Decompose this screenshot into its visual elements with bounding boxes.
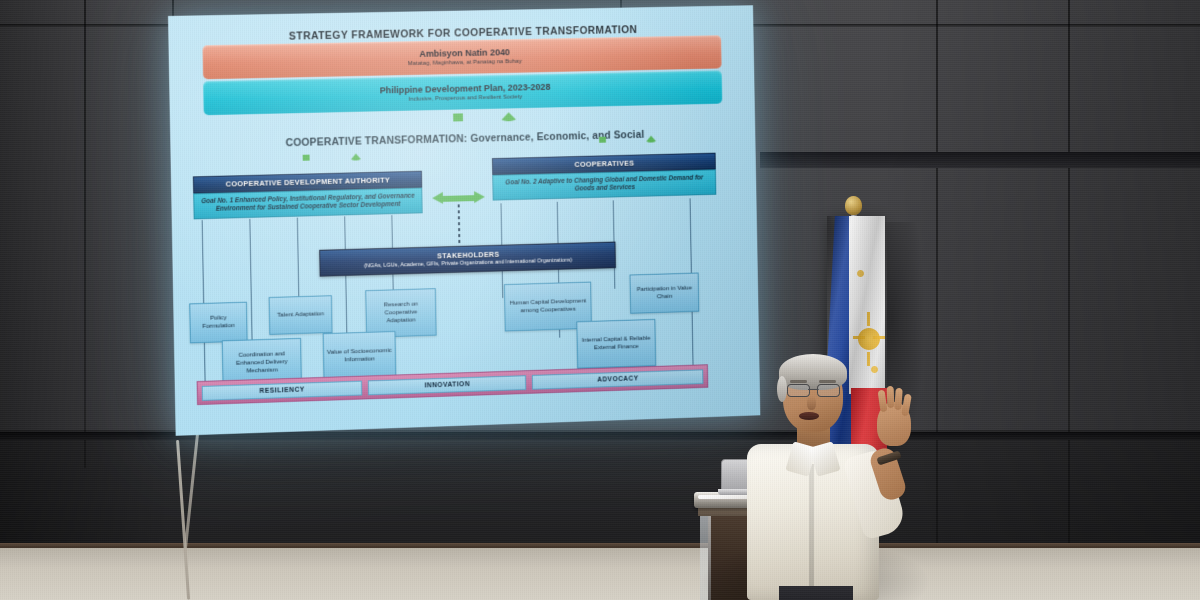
footer-cell-resiliency: RESILIENCY [202,380,363,400]
footer-cell-innovation: INNOVATION [368,375,526,395]
stage-floor [0,548,1200,600]
banner-title: Philippine Development Plan, 2023-2028 [380,82,551,96]
item-box-policy-formulation: Policy Formulation [189,302,247,344]
banner-subtitle: Inclusive, Prosperous and Resilient Soci… [408,93,522,102]
presentation-slide: STRATEGY FRAMEWORK FOR COOPERATIVE TRANS… [168,5,760,436]
connector-dotted [458,204,461,246]
arrow-up-icon [303,155,310,161]
wall-shadow-left [0,0,170,600]
stakeholders-box: STAKEHOLDERS (NGAs, LGUs, Academe, GFIs,… [319,242,616,278]
item-box-talent-adaptation: Talent Adaptation [269,295,333,335]
item-box-participation-in-value-chain: Participation in Value Chain [630,273,700,314]
flag-finial-icon [845,196,862,215]
wall-shadow-right [880,0,1200,600]
item-box-value-of-socioeconomic-information: Value of Socioeconomic Information [323,331,397,381]
presenter-finger [901,394,912,417]
connector-line [344,216,347,345]
item-box-research-on-cooperative-adaptation: Research on Cooperative Adaptation [365,288,436,338]
arrow-up-icon [453,113,463,121]
presenter-hair [777,376,787,402]
pillar-goal: Goal No. 1 Enhanced Policy, Institutiona… [193,188,422,220]
eyeglasses-icon [787,384,840,396]
banner-title: Ambisyon Natin 2040 [419,47,510,59]
slide-center-heading: COOPERATIVE TRANSFORMATION: Governance, … [170,126,755,152]
eyeglass-lens [787,384,810,397]
pillar-cooperative-development-authority: COOPERATIVE DEVELOPMENT AUTHORITY Goal N… [193,171,423,220]
arrow-up-icon [599,137,606,143]
eyeglass-lens [817,384,840,397]
projection-screen: STRATEGY FRAMEWORK FOR COOPERATIVE TRANS… [168,5,760,436]
pillar-cooperatives: COOPERATIVES Goal No. 2 Adaptive to Chan… [492,153,716,201]
item-box-internal-capital-reliable-external-finance: Internal Capital & Reliable External Fin… [576,319,656,369]
double-arrow-icon [432,191,485,205]
connector-line [297,218,300,306]
presentation-photo-scene: STRATEGY FRAMEWORK FOR COOPERATIVE TRANS… [0,0,1200,600]
footer-cell-advocacy: ADVOCACY [532,369,704,389]
presenter-shirt-placket [809,464,814,596]
banner-subtitle: Matatag, Maginhawa, at Panatag na Buhay [408,58,522,67]
connector-line [202,220,206,383]
presenter-nose [807,396,816,410]
presenter-mouth [799,412,819,420]
presenter-eyebrow [790,380,807,383]
presenter-eyebrow [819,380,836,383]
connector-line [249,219,252,349]
presenter [735,360,915,600]
presenter-finger [887,386,895,408]
pillar-goal: Goal No. 2 Adaptive to Changing Global a… [492,169,716,200]
presenter-trousers [779,586,853,600]
